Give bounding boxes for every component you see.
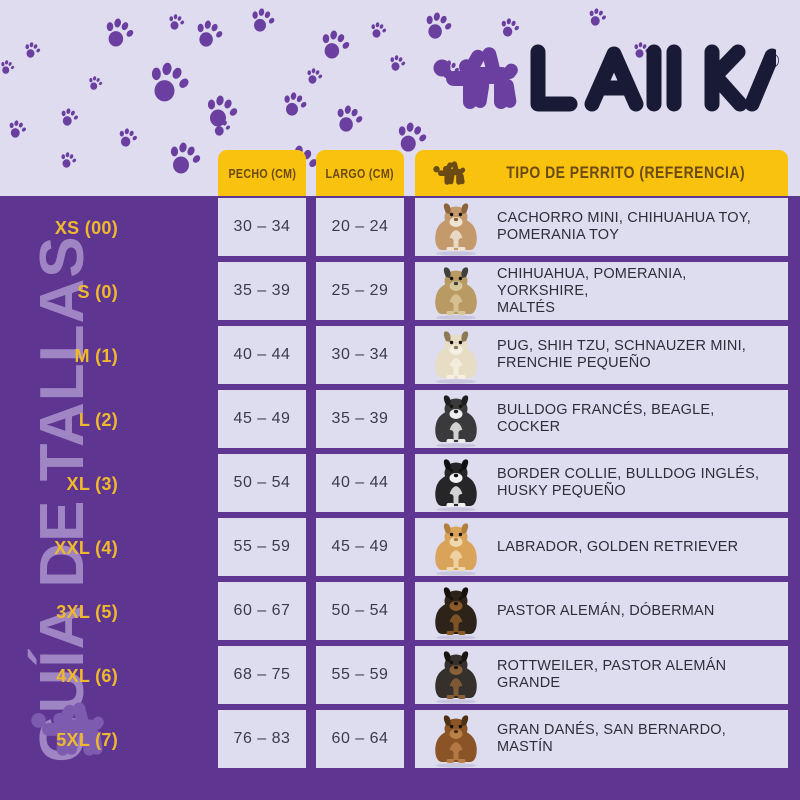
paw-print-icon: [370, 22, 387, 43]
yorkshire-dog-image: [415, 262, 497, 320]
paw-print-icon: [195, 20, 224, 52]
registered-mark: ®: [763, 48, 780, 74]
table-row: XS (00)30 – 3420 – 24CACHORRO MINI, CHIH…: [126, 196, 790, 260]
paw-print-icon: [282, 92, 308, 121]
chest-value-cell: 60 – 67: [218, 582, 306, 640]
chest-value-cell: 45 – 49: [218, 390, 306, 448]
paw-print-icon: [88, 76, 103, 95]
paw-print-icon: [588, 8, 607, 31]
size-label: M (1): [0, 324, 118, 388]
breed-list-text: BULLDOG FRANCÉS, BEAGLE, COCKER: [497, 402, 788, 436]
length-value-cell: 25 – 29: [316, 262, 404, 320]
size-guide-infographic: ® GUÍA DE TALLAS: [0, 0, 800, 800]
paw-print-icon: [8, 120, 27, 143]
paw-print-icon: [250, 8, 276, 37]
breed-header-label: TIPO DE PERRITO (REFERENCIA): [506, 163, 745, 183]
chest-value-cell: 30 – 34: [218, 198, 306, 256]
chest-value-cell: 76 – 83: [218, 710, 306, 768]
column-header-breed: TIPO DE PERRITO (REFERENCIA): [415, 150, 788, 196]
length-value-cell: 35 – 39: [316, 390, 404, 448]
length-value-cell: 55 – 59: [316, 646, 404, 704]
breed-cell: BORDER COLLIE, BULLDOG INGLÉS, HUSKY PEQ…: [415, 454, 788, 512]
breed-list-text: PASTOR ALEMÁN, DÓBERMAN: [497, 603, 788, 620]
chest-value-cell: 55 – 59: [218, 518, 306, 576]
table-body: XS (00)30 – 3420 – 24CACHORRO MINI, CHIH…: [126, 196, 790, 772]
chest-value-cell: 68 – 75: [218, 646, 306, 704]
length-value-cell: 50 – 54: [316, 582, 404, 640]
breed-cell: GRAN DANÉS, SAN BERNARDO, MASTÍN: [415, 710, 788, 768]
table-row: 3XL (5)60 – 6750 – 54PASTOR ALEMÁN, DÓBE…: [126, 580, 790, 644]
paw-print-icon: [306, 68, 323, 89]
table-row: 5XL (7)76 – 8360 – 64GRAN DANÉS, SAN BER…: [126, 708, 790, 772]
chest-value-cell: 40 – 44: [218, 326, 306, 384]
length-value-cell: 20 – 24: [316, 198, 404, 256]
breed-list-text: GRAN DANÉS, SAN BERNARDO, MASTÍN: [497, 722, 788, 756]
breed-cell: CACHORRO MINI, CHIHUAHUA TOY, POMERANIA …: [415, 198, 788, 256]
table-row: XL (3)50 – 5440 – 44BORDER COLLIE, BULLD…: [126, 452, 790, 516]
size-label: L (2): [0, 388, 118, 452]
breed-cell: ROTTWEILER, PASTOR ALEMÁN GRANDE: [415, 646, 788, 704]
chihuahua-dog-image: [415, 198, 497, 256]
brand-wordmark: ®: [526, 30, 776, 130]
breed-cell: CHIHUAHUA, POMERANIA, YORKSHIRE, MALTÉS: [415, 262, 788, 320]
length-value-cell: 30 – 34: [316, 326, 404, 384]
paw-print-icon: [60, 108, 79, 131]
mastiff-dog-image: [415, 710, 497, 768]
length-value-cell: 60 – 64: [316, 710, 404, 768]
table-row: M (1)40 – 4430 – 34PUG, SHIH TZU, SCHNAU…: [126, 324, 790, 388]
paw-print-icon: [320, 30, 351, 64]
breed-cell: BULLDOG FRANCÉS, BEAGLE, COCKER: [415, 390, 788, 448]
size-label: 3XL (5): [0, 580, 118, 644]
balloon-dog-icon: [432, 159, 466, 187]
paw-print-icon: [148, 62, 191, 107]
paw-print-icon: [205, 95, 239, 132]
chest-header-label: PECHO (CM): [228, 166, 296, 181]
paw-print-icon: [24, 42, 41, 63]
breed-cell: PASTOR ALEMÁN, DÓBERMAN: [415, 582, 788, 640]
table-row: L (2)45 – 4935 – 39BULLDOG FRANCÉS, BEAG…: [126, 388, 790, 452]
french-bulldog-dog-image: [415, 390, 497, 448]
size-label: XS (00): [0, 196, 118, 260]
paw-print-icon: [60, 152, 77, 173]
chest-value-cell: 35 – 39: [218, 262, 306, 320]
laika-logo: ®: [432, 30, 782, 130]
breed-list-text: CACHORRO MINI, CHIHUAHUA TOY, POMERANIA …: [497, 210, 788, 244]
breed-list-text: CHIHUAHUA, POMERANIA, YORKSHIRE, MALTÉS: [497, 266, 788, 317]
breed-list-text: PUG, SHIH TZU, SCHNAUZER MINI, FRENCHIE …: [497, 338, 788, 372]
golden-retriever-dog-image: [415, 518, 497, 576]
breed-list-text: LABRADOR, GOLDEN RETRIEVER: [497, 539, 788, 556]
column-header-length: LARGO (CM): [316, 150, 404, 196]
paw-print-icon: [335, 105, 364, 137]
size-label: XXL (4): [0, 516, 118, 580]
length-header-label: LARGO (CM): [326, 166, 394, 181]
length-value-cell: 45 – 49: [316, 518, 404, 576]
chest-value-cell: 50 – 54: [218, 454, 306, 512]
table-row: XXL (4)55 – 5945 – 49LABRADOR, GOLDEN RE…: [126, 516, 790, 580]
size-label: XL (3): [0, 452, 118, 516]
column-header-chest: PECHO (CM): [218, 150, 306, 196]
paw-print-icon: [104, 18, 135, 52]
border-collie-dog-image: [415, 454, 497, 512]
paw-print-icon: [168, 14, 185, 35]
rottweiler-dog-image: [415, 646, 497, 704]
size-label: S (0): [0, 260, 118, 324]
table-row: S (0)35 – 3925 – 29CHIHUAHUA, POMERANIA,…: [126, 260, 790, 324]
balloon-dog-icon: [432, 41, 518, 120]
length-value-cell: 40 – 44: [316, 454, 404, 512]
paw-print-icon: [0, 60, 15, 79]
breed-list-text: ROTTWEILER, PASTOR ALEMÁN GRANDE: [497, 658, 788, 692]
table-row: 4XL (6)68 – 7555 – 59ROTTWEILER, PASTOR …: [126, 644, 790, 708]
paw-print-icon: [118, 128, 138, 152]
size-label: 5XL (7): [0, 708, 118, 772]
breed-cell: LABRADOR, GOLDEN RETRIEVER: [415, 518, 788, 576]
size-label: 4XL (6): [0, 644, 118, 708]
doberman-dog-image: [415, 582, 497, 640]
paw-print-icon: [389, 55, 406, 76]
table-header-row: PECHO (CM) LARGO (CM): [126, 150, 790, 196]
breed-cell: PUG, SHIH TZU, SCHNAUZER MINI, FRENCHIE …: [415, 326, 788, 384]
breed-list-text: BORDER COLLIE, BULLDOG INGLÉS, HUSKY PEQ…: [497, 466, 788, 500]
shih-tzu-dog-image: [415, 326, 497, 384]
